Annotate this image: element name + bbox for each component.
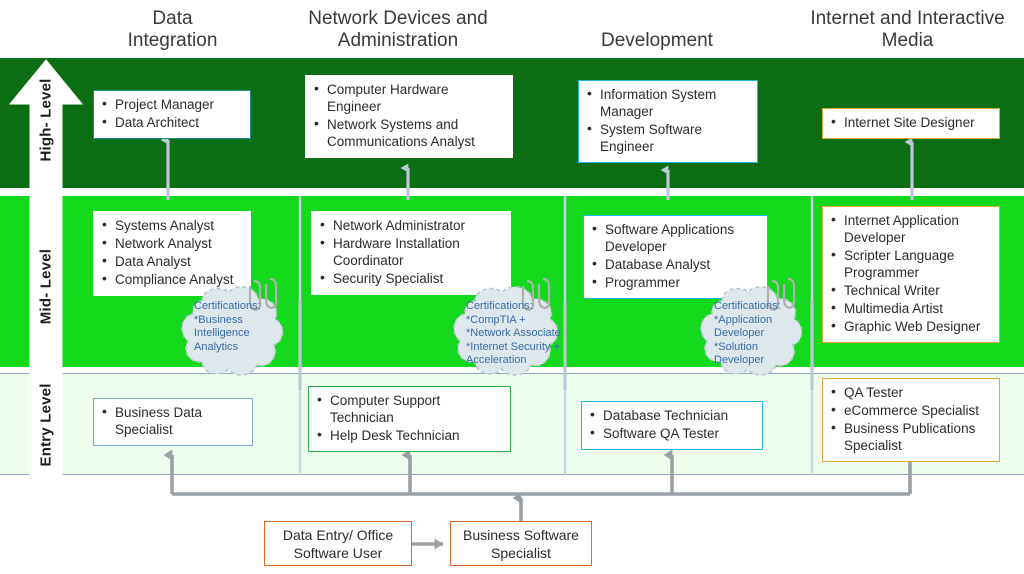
- job-list: Computer Support Technician Help Desk Te…: [317, 392, 502, 444]
- job-item: Graphic Web Designer: [831, 318, 991, 335]
- job-item: Internet Site Designer: [831, 114, 991, 131]
- job-list: Project Manager Data Architect: [102, 96, 242, 131]
- job-item: Help Desk Technician: [317, 427, 502, 444]
- certification-item: Analytics: [194, 341, 270, 355]
- column-header-development: Development: [562, 30, 752, 52]
- job-list: Information System Manager System Softwa…: [587, 86, 749, 155]
- job-box-high-network-devices[interactable]: Computer Hardware Engineer Network Syste…: [305, 75, 513, 158]
- foundation-box-data-entry[interactable]: Data Entry/ Office Software User: [264, 521, 412, 566]
- job-item: Hardware Installation Coordinator: [320, 235, 502, 269]
- job-list: Business Data Specialist: [102, 404, 244, 438]
- job-item: Systems Analyst: [102, 217, 242, 234]
- job-item: Network Analyst: [102, 235, 242, 252]
- certification-item: Intelligence: [194, 327, 270, 341]
- certification-item: *Network Associate: [466, 327, 578, 341]
- column-title-line2: Administration: [278, 30, 518, 52]
- job-list: Internet Site Designer: [831, 114, 991, 131]
- column-title-line1: Internet and Interactive: [790, 8, 1024, 30]
- career-pathway-diagram: Data Integration Network Devices and Adm…: [0, 0, 1024, 574]
- level-label-mid: Mid- Level: [38, 249, 55, 325]
- column-title-line1: Data: [95, 8, 250, 30]
- certification-text: Certifications: *Business Intelligence A…: [194, 300, 270, 354]
- job-item: Network Administrator: [320, 217, 502, 234]
- column-title-line1: Development: [562, 30, 752, 52]
- job-item: Multimedia Artist: [831, 300, 991, 317]
- certification-item: *CompTIA +: [466, 314, 578, 328]
- certification-callout-development[interactable]: Certifications: *Application Developer *…: [700, 283, 812, 383]
- job-list: Software Applications Developer Database…: [592, 221, 759, 291]
- foundation-label: Data Entry/ Office Software User: [265, 526, 411, 562]
- job-item: Technical Writer: [831, 282, 991, 299]
- certification-item: Acceleration: [466, 354, 578, 368]
- certification-callout-data-integration[interactable]: Certifications: *Business Intelligence A…: [180, 283, 295, 383]
- job-box-entry-network-devices[interactable]: Computer Support Technician Help Desk Te…: [308, 386, 511, 452]
- certification-item: *Application: [714, 314, 790, 328]
- foundation-label: Business Software Specialist: [451, 526, 591, 562]
- certification-heading: Certifications:: [194, 300, 270, 314]
- job-item: Data Architect: [102, 114, 242, 131]
- job-item: Software Applications Developer: [592, 221, 759, 255]
- column-header-network-devices: Network Devices and Administration: [278, 8, 518, 52]
- job-box-entry-development[interactable]: Database Technician Software QA Tester: [581, 401, 763, 450]
- job-box-entry-internet-media[interactable]: QA Tester eCommerce Specialist Business …: [822, 378, 1000, 462]
- column-title-line2: Media: [790, 30, 1024, 52]
- job-item: Information System Manager: [587, 86, 749, 120]
- job-item: Internet Application Developer: [831, 212, 991, 246]
- certification-item: *Business: [194, 314, 270, 328]
- job-item: Computer Support Technician: [317, 392, 502, 426]
- job-box-high-internet-media[interactable]: Internet Site Designer: [822, 108, 1000, 139]
- job-item: QA Tester: [831, 384, 991, 401]
- certification-item: *Internet Security +: [466, 341, 578, 355]
- column-header-internet-media: Internet and Interactive Media: [790, 8, 1024, 52]
- job-item: Network Systems and Communications Analy…: [314, 116, 504, 150]
- column-header-data-integration: Data Integration: [95, 8, 250, 52]
- job-list: Systems Analyst Network Analyst Data Ana…: [102, 217, 242, 288]
- job-box-entry-data-integration[interactable]: Business Data Specialist: [93, 398, 253, 446]
- job-list: Network Administrator Hardware Installat…: [320, 217, 502, 287]
- job-item: Software QA Tester: [590, 425, 754, 442]
- job-item: Business Publications Specialist: [831, 420, 991, 454]
- job-list: Database Technician Software QA Tester: [590, 407, 754, 442]
- job-box-mid-internet-media[interactable]: Internet Application Developer Scripter …: [822, 206, 1000, 343]
- job-box-high-development[interactable]: Information System Manager System Softwa…: [578, 80, 758, 163]
- job-list: Computer Hardware Engineer Network Syste…: [314, 81, 504, 150]
- job-item: Data Analyst: [102, 253, 242, 270]
- certification-callout-network-devices[interactable]: Certifications: *CompTIA + *Network Asso…: [452, 283, 570, 383]
- job-item: System Software Engineer: [587, 121, 749, 155]
- foundation-box-business-software[interactable]: Business Software Specialist: [450, 521, 592, 566]
- job-box-high-data-integration[interactable]: Project Manager Data Architect: [93, 90, 251, 139]
- certification-item: Developer: [714, 354, 790, 368]
- job-list: Internet Application Developer Scripter …: [831, 212, 991, 335]
- certification-item: *Solution: [714, 341, 790, 355]
- certification-heading: Certifications:: [714, 300, 790, 314]
- certification-item: Developer: [714, 327, 790, 341]
- column-title-line2: Integration: [95, 30, 250, 52]
- job-item: Project Manager: [102, 96, 242, 113]
- certification-heading: Certifications:: [466, 300, 578, 314]
- job-item: Database Technician: [590, 407, 754, 424]
- job-item: Database Analyst: [592, 256, 759, 273]
- job-item: Scripter Language Programmer: [831, 247, 991, 281]
- certification-text: Certifications: *CompTIA + *Network Asso…: [466, 300, 578, 368]
- job-item: Computer Hardware Engineer: [314, 81, 504, 115]
- job-item: eCommerce Specialist: [831, 402, 991, 419]
- level-label-high: High- Level: [38, 86, 55, 162]
- column-title-line1: Network Devices and: [278, 8, 518, 30]
- job-item: Business Data Specialist: [102, 404, 244, 438]
- job-list: QA Tester eCommerce Specialist Business …: [831, 384, 991, 454]
- certification-text: Certifications: *Application Developer *…: [714, 300, 790, 368]
- level-label-entry: Entry Level: [38, 391, 55, 467]
